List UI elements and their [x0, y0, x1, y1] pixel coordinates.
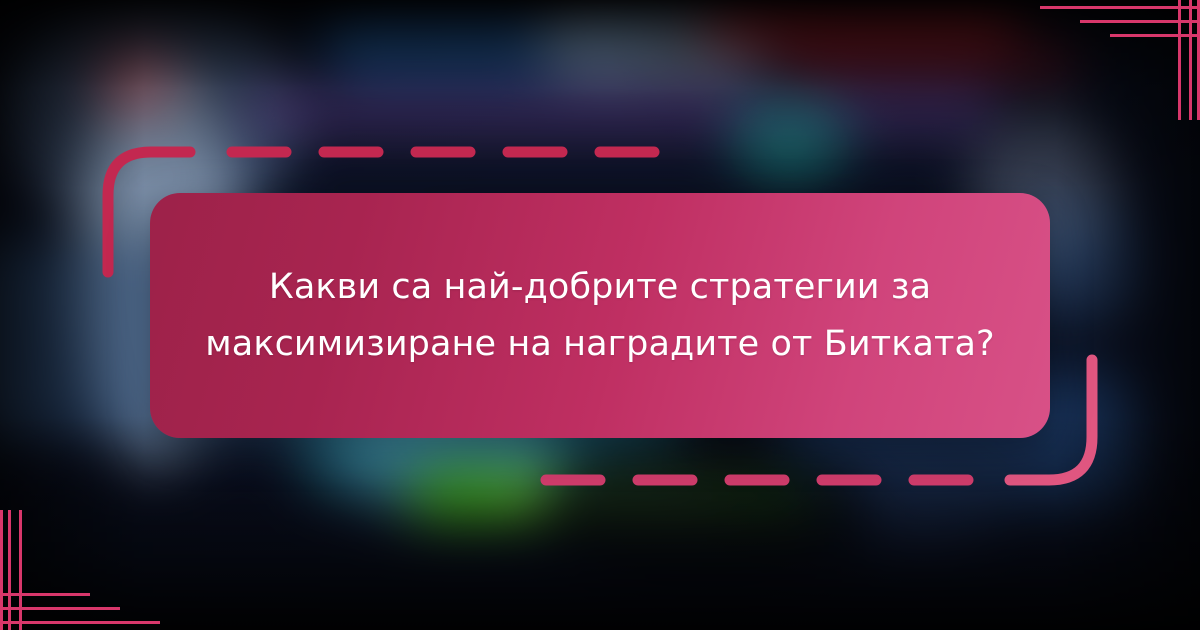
social-card-canvas: Какви са най-добрите стратегии за максим… — [0, 0, 1200, 630]
question-card: Какви са най-добрите стратегии за максим… — [150, 193, 1050, 438]
corner-bracket-top-right — [1030, 0, 1200, 120]
question-text: Какви са най-добрите стратегии за максим… — [198, 259, 1002, 372]
corner-bracket-bottom-left — [0, 510, 170, 630]
